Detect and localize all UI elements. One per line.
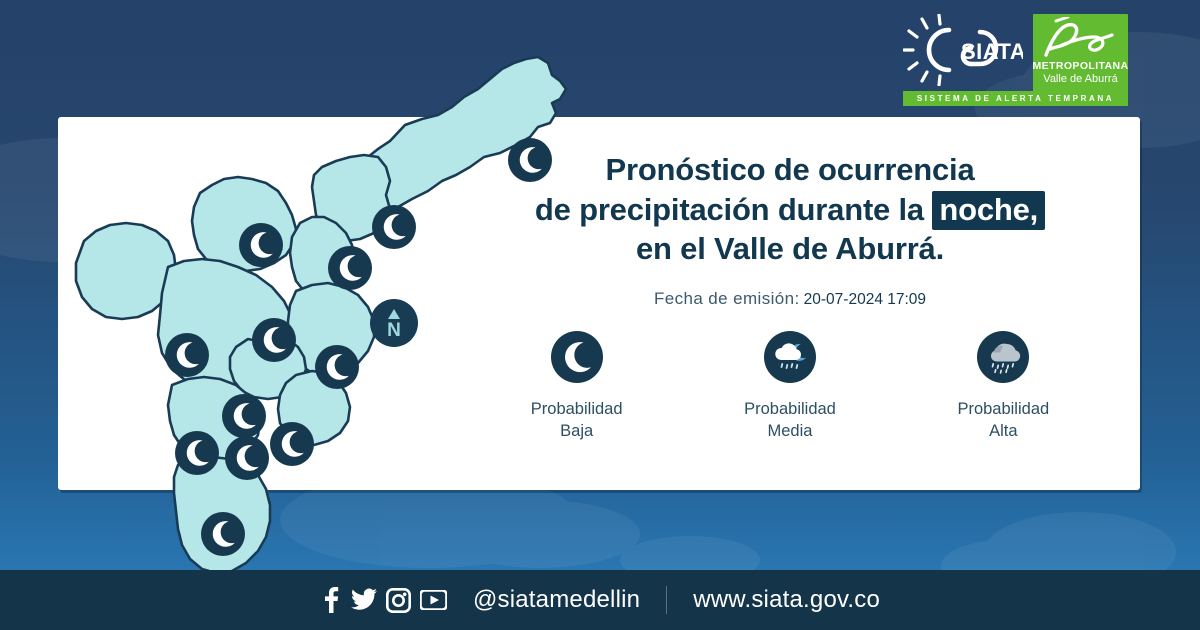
facebook-icon[interactable]: [320, 587, 342, 613]
legend-item-alta: Probabilidad Alta: [913, 330, 1093, 443]
legend-label-alta: Probabilidad Alta: [913, 398, 1093, 443]
legend-item-baja: Probabilidad Baja: [487, 330, 667, 443]
instagram-icon[interactable]: [386, 588, 411, 613]
siata-wordmark: SIATA: [961, 39, 1023, 64]
map-marker-envigado: [269, 421, 315, 467]
legend-alta-line2: Alta: [913, 420, 1093, 442]
youtube-icon[interactable]: [420, 590, 447, 610]
map-marker-medellin: [251, 317, 297, 363]
map-marker-caldas: [200, 511, 246, 557]
valle-de-aburra-map: N: [60, 45, 580, 575]
title-highlight-noche: noche,: [932, 191, 1045, 230]
social-handle[interactable]: @siatamedellin: [473, 586, 640, 614]
green-banner: SISTEMA DE ALERTA TEMPRANA: [903, 91, 1128, 106]
svg-text:N: N: [387, 320, 401, 341]
map-marker-girardota: [371, 204, 417, 250]
page-title: Pronóstico de ocurrencia de precipitació…: [470, 150, 1110, 269]
moon-rain-cloud-icon: [763, 330, 817, 384]
legend-media-line2: Media: [700, 420, 880, 442]
title-line-3: en el Valle de Aburrá.: [470, 229, 1110, 269]
social-icons: [320, 587, 447, 613]
map-marker-san-pedro: [238, 222, 284, 268]
area-logo-line1: METROPOLITANA: [1033, 61, 1129, 73]
map-marker-sabaneta: [224, 435, 270, 481]
emission-date-label: Fecha de emisión:: [654, 289, 800, 308]
moon-icon: [550, 330, 604, 384]
area-logo-line2: Valle de Aburrá: [1043, 73, 1117, 86]
area-script-mark: [1040, 17, 1122, 61]
legend-label-media: Probabilidad Media: [700, 398, 880, 443]
title-line-2: de precipitación durante la noche,: [470, 190, 1110, 230]
map-marker-san-jeronimo: [164, 332, 210, 378]
infographic-root: N Pronóstico de ocurrencia de precipitac…: [0, 0, 1200, 630]
forecast-text-block: Pronóstico de ocurrencia de precipitació…: [470, 150, 1110, 309]
emission-date-value: 20-07-2024 17:09: [804, 291, 926, 308]
rain-cloud-icon: [976, 330, 1030, 384]
probability-legend: Probabilidad Baja Pr: [470, 330, 1110, 443]
map-marker-la-estrella: [174, 430, 220, 476]
green-banner-text: SISTEMA DE ALERTA TEMPRANA: [917, 94, 1114, 103]
siata-logo: SIATA: [903, 14, 1023, 86]
title-line-2-text: de precipitación durante la: [535, 192, 924, 227]
footer-bar: @siatamedellin www.siata.gov.co: [0, 570, 1200, 630]
emission-date: Fecha de emisión:20-07-2024 17:09: [470, 289, 1110, 309]
map-marker-itagui: [221, 393, 267, 439]
legend-media-line1: Probabilidad: [700, 398, 880, 420]
legend-alta-line1: Probabilidad: [913, 398, 1093, 420]
legend-item-media: Probabilidad Media: [700, 330, 880, 443]
title-line-1: Pronóstico de ocurrencia: [470, 150, 1110, 190]
twitter-icon[interactable]: [351, 588, 377, 612]
map-marker-bello: [314, 344, 360, 390]
footer-divider: [666, 586, 667, 614]
website-link[interactable]: www.siata.gov.co: [693, 586, 880, 614]
legend-baja-line1: Probabilidad: [487, 398, 667, 420]
north-arrow-icon: N: [369, 298, 419, 348]
map-marker-copacabana: [327, 245, 373, 291]
legend-baja-line2: Baja: [487, 420, 667, 442]
legend-label-baja: Probabilidad Baja: [487, 398, 667, 443]
map-svg: [60, 45, 580, 575]
area-metropolitana-logo: METROPOLITANA Valle de Aburrá: [1033, 14, 1128, 92]
logo-group: SIATA METROPOLITANA Valle de Aburrá: [903, 14, 1128, 92]
